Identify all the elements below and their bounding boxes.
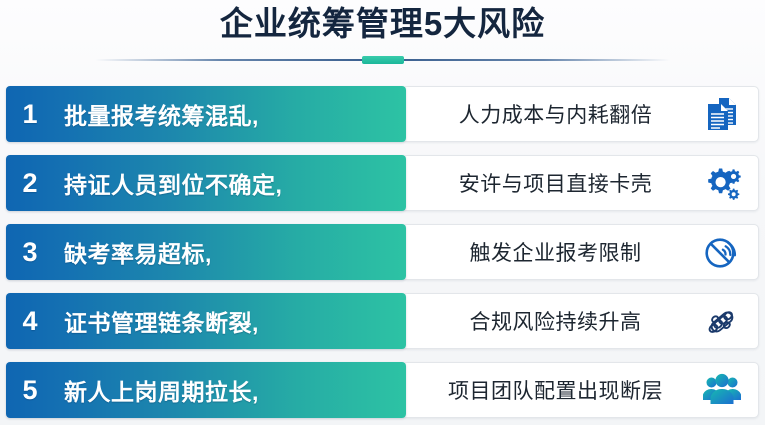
consequence-panel[interactable]: 安许与项目直接卡壳 bbox=[402, 155, 759, 211]
list-item[interactable]: 5 新人上岗周期拉长, 项目团队配置出现断层 bbox=[6, 362, 759, 418]
risk-bar[interactable]: 1 批量报考统筹混乱, bbox=[6, 86, 406, 142]
consequence-panel[interactable]: 项目团队配置出现断层 bbox=[402, 362, 759, 418]
consequence-label: 安许与项目直接卡壳 bbox=[403, 168, 686, 198]
chain-link-icon bbox=[686, 293, 758, 349]
risk-number: 3 bbox=[6, 224, 54, 280]
risk-bar[interactable]: 4 证书管理链条断裂, bbox=[6, 293, 406, 349]
list-item[interactable]: 4 证书管理链条断裂, 合规风险持续升高 bbox=[6, 293, 759, 349]
risk-label: 证书管理链条断裂, bbox=[64, 304, 259, 338]
documents-icon bbox=[686, 86, 758, 142]
page-title: 企业统筹管理5大风险 bbox=[0, 2, 765, 46]
consequence-label: 合规风险持续升高 bbox=[403, 306, 686, 336]
divider-accent bbox=[362, 56, 404, 64]
consequence-panel[interactable]: 触发企业报考限制 bbox=[402, 224, 759, 280]
consequence-label: 触发企业报考限制 bbox=[403, 237, 686, 267]
risk-number: 4 bbox=[6, 293, 54, 349]
consequence-label: 项目团队配置出现断层 bbox=[403, 375, 686, 405]
risk-label: 批量报考统筹混乱, bbox=[64, 97, 259, 131]
consequence-panel[interactable]: 人力成本与内耗翻倍 bbox=[402, 86, 759, 142]
title-divider bbox=[0, 55, 765, 65]
prohibition-signal-icon bbox=[686, 224, 758, 280]
risk-number: 1 bbox=[6, 86, 54, 142]
risk-number: 2 bbox=[6, 155, 54, 211]
risk-label: 缺考率易超标, bbox=[64, 235, 212, 269]
gears-icon bbox=[686, 155, 758, 211]
consequence-panel[interactable]: 合规风险持续升高 bbox=[402, 293, 759, 349]
title-block: 企业统筹管理5大风险 bbox=[0, 2, 765, 46]
list-item[interactable]: 3 缺考率易超标, 触发企业报考限制 bbox=[6, 224, 759, 280]
risk-bar[interactable]: 5 新人上岗周期拉长, bbox=[6, 362, 406, 418]
consequence-label: 人力成本与内耗翻倍 bbox=[403, 99, 686, 129]
list-item[interactable]: 1 批量报考统筹混乱, 人力成本与内耗翻倍 bbox=[6, 86, 759, 142]
risk-number: 5 bbox=[6, 362, 54, 418]
list-item[interactable]: 2 持证人员到位不确定, 安许与项目直接卡壳 bbox=[6, 155, 759, 211]
risk-label: 持证人员到位不确定, bbox=[64, 166, 282, 200]
risk-list: 1 批量报考统筹混乱, 人力成本与内耗翻倍 bbox=[6, 86, 759, 418]
slide-canvas: 企业统筹管理5大风险 1 批量报考统筹混乱, 人力成本与内耗翻倍 bbox=[0, 0, 765, 425]
risk-bar[interactable]: 3 缺考率易超标, bbox=[6, 224, 406, 280]
risk-label: 新人上岗周期拉长, bbox=[64, 373, 259, 407]
people-team-icon bbox=[686, 362, 758, 418]
risk-bar[interactable]: 2 持证人员到位不确定, bbox=[6, 155, 406, 211]
